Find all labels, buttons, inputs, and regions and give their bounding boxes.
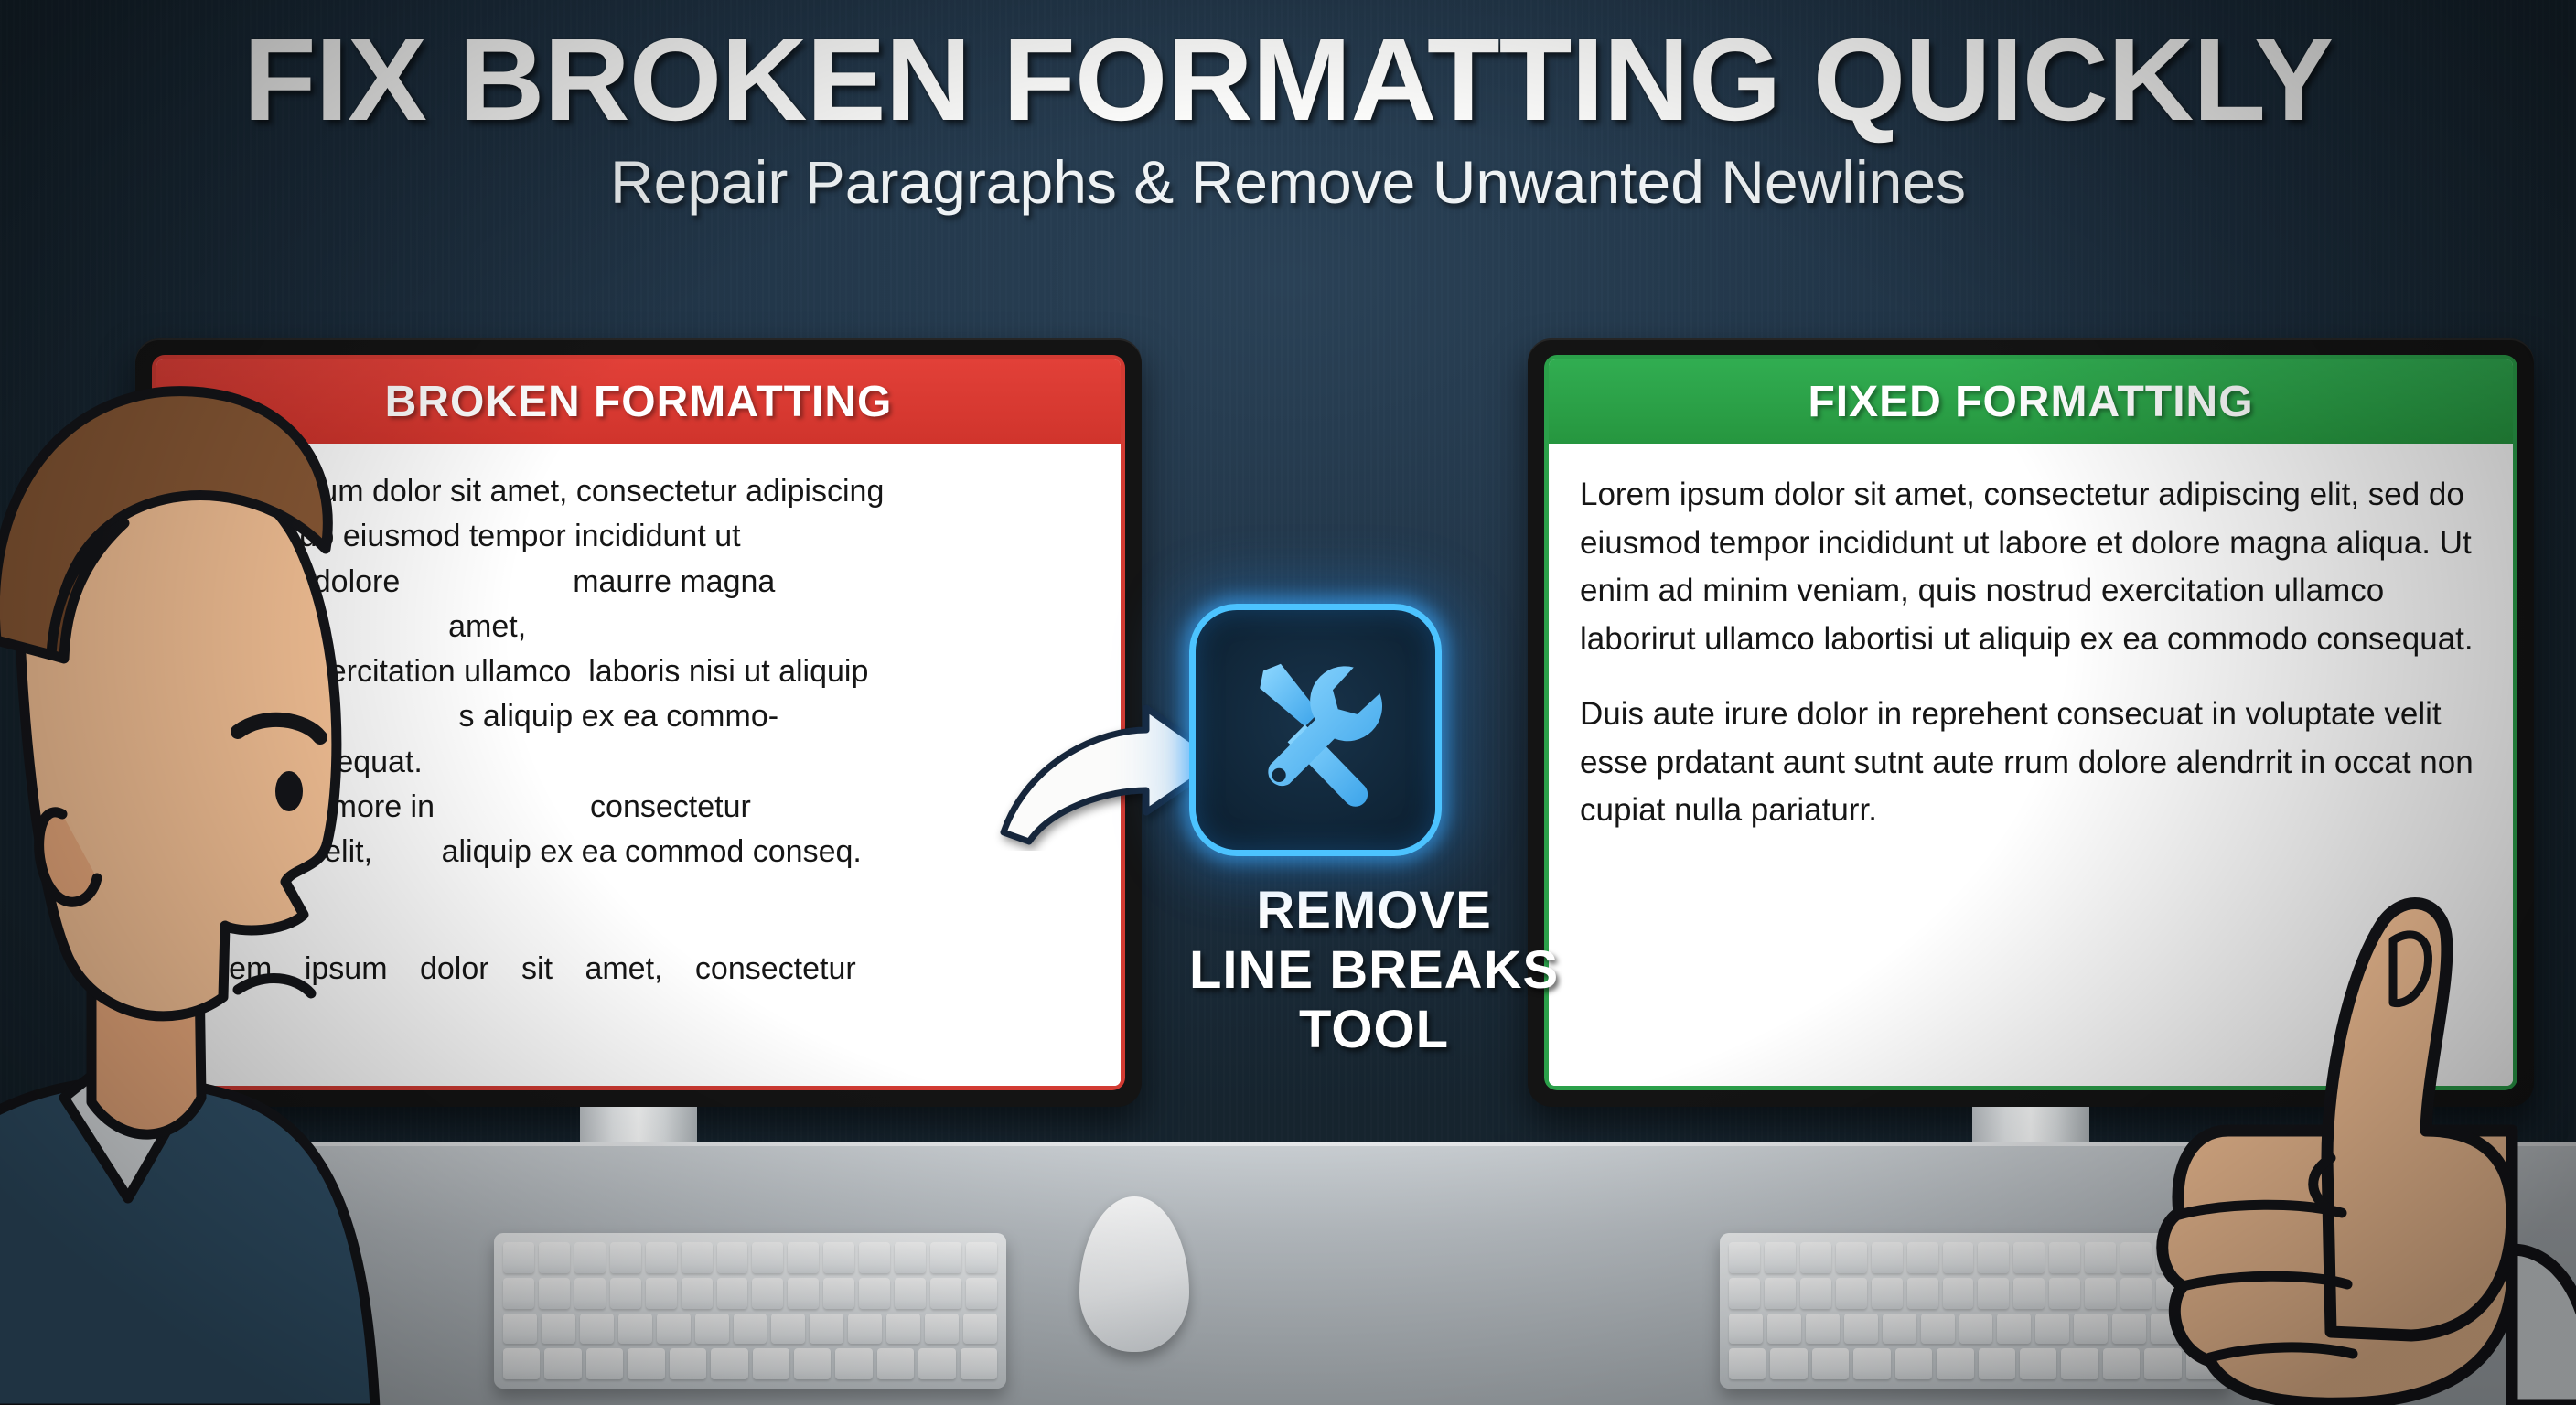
keyboard-key[interactable] bbox=[2020, 1348, 2056, 1379]
keyboard-key[interactable] bbox=[717, 1242, 748, 1273]
keyboard-key[interactable] bbox=[1943, 1278, 1974, 1309]
keyboard-key[interactable] bbox=[788, 1242, 819, 1273]
keyboard-key[interactable] bbox=[1770, 1348, 1807, 1379]
fixed-formatting-heading: FIXED FORMATTING bbox=[1549, 359, 2513, 444]
left-keyboard[interactable] bbox=[494, 1233, 1006, 1389]
keyboard-key[interactable] bbox=[586, 1348, 623, 1379]
keyboard-key[interactable] bbox=[1836, 1278, 1867, 1309]
tool-badge[interactable]: REMOVE LINE BREAKS TOOL bbox=[1189, 604, 1559, 1060]
keyboard-key[interactable] bbox=[1978, 1242, 2009, 1273]
keyboard-key[interactable] bbox=[1729, 1348, 1766, 1379]
keyboard-key[interactable] bbox=[1978, 1278, 2009, 1309]
keyboard-key[interactable] bbox=[580, 1314, 614, 1345]
keyboard-key[interactable] bbox=[966, 1242, 997, 1273]
keyboard-key[interactable] bbox=[670, 1348, 706, 1379]
keyboard-key[interactable] bbox=[1729, 1242, 1760, 1273]
infographic-canvas: FIX BROKEN FORMATTING QUICKLY Repair Par… bbox=[0, 0, 2576, 1405]
keyboard-key[interactable] bbox=[1836, 1242, 1867, 1273]
keyboard-key[interactable] bbox=[542, 1314, 575, 1345]
keyboard-key[interactable] bbox=[1800, 1278, 1831, 1309]
tool-label-line-3: TOOL bbox=[1189, 1001, 1559, 1060]
keyboard-key[interactable] bbox=[711, 1348, 747, 1379]
keyboard-key[interactable] bbox=[1872, 1242, 1903, 1273]
keyboard-key[interactable] bbox=[610, 1242, 641, 1273]
keyboard-key[interactable] bbox=[544, 1348, 581, 1379]
keyboard-key[interactable] bbox=[1937, 1348, 1973, 1379]
keyboard-row bbox=[503, 1348, 997, 1379]
fixed-text-paragraph: Duis aute irure dolor in reprehent conse… bbox=[1580, 691, 2482, 835]
keyboard-key[interactable] bbox=[961, 1348, 997, 1379]
tool-label-line-1: REMOVE bbox=[1189, 882, 1559, 941]
keyboard-key[interactable] bbox=[1907, 1242, 1938, 1273]
keyboard-key[interactable] bbox=[823, 1242, 854, 1273]
keyboard-key[interactable] bbox=[848, 1314, 882, 1345]
keyboard-key[interactable] bbox=[2085, 1278, 2116, 1309]
header: FIX BROKEN FORMATTING QUICKLY Repair Par… bbox=[0, 0, 2576, 212]
keyboard-key[interactable] bbox=[646, 1242, 677, 1273]
keyboard-key[interactable] bbox=[895, 1278, 926, 1309]
keyboard-key[interactable] bbox=[771, 1314, 805, 1345]
keyboard-key[interactable] bbox=[1800, 1242, 1831, 1273]
keyboard-key[interactable] bbox=[717, 1278, 748, 1309]
keyboard-key[interactable] bbox=[753, 1348, 789, 1379]
keyboard-key[interactable] bbox=[835, 1348, 872, 1379]
keyboard-key[interactable] bbox=[859, 1242, 890, 1273]
keyboard-key[interactable] bbox=[1853, 1348, 1890, 1379]
tool-label: REMOVE LINE BREAKS TOOL bbox=[1189, 882, 1559, 1060]
keyboard-key[interactable] bbox=[886, 1314, 920, 1345]
keyboard-key[interactable] bbox=[1883, 1314, 1916, 1345]
keyboard-row bbox=[503, 1278, 997, 1309]
keyboard-row bbox=[503, 1314, 997, 1345]
keyboard-key[interactable] bbox=[966, 1278, 997, 1309]
keyboard-key[interactable] bbox=[2049, 1278, 2080, 1309]
keyboard-key[interactable] bbox=[1767, 1314, 1801, 1345]
page-subtitle: Repair Paragraphs & Remove Unwanted Newl… bbox=[0, 152, 2576, 212]
keyboard-key[interactable] bbox=[1979, 1348, 2015, 1379]
keyboard-key[interactable] bbox=[2061, 1348, 2098, 1379]
keyboard-key[interactable] bbox=[963, 1314, 997, 1345]
keyboard-key[interactable] bbox=[695, 1314, 729, 1345]
keyboard-key[interactable] bbox=[1959, 1314, 1993, 1345]
keyboard-key[interactable] bbox=[794, 1348, 831, 1379]
keyboard-key[interactable] bbox=[1806, 1314, 1840, 1345]
keyboard-key[interactable] bbox=[1907, 1278, 1938, 1309]
keyboard-key[interactable] bbox=[1844, 1314, 1878, 1345]
keyboard-key[interactable] bbox=[610, 1278, 641, 1309]
keyboard-key[interactable] bbox=[2074, 1314, 2108, 1345]
keyboard-key[interactable] bbox=[628, 1348, 664, 1379]
keyboard-key[interactable] bbox=[682, 1278, 713, 1309]
keyboard-key[interactable] bbox=[859, 1278, 890, 1309]
keyboard-key[interactable] bbox=[1943, 1242, 1974, 1273]
keyboard-key[interactable] bbox=[810, 1314, 843, 1345]
fixed-text-block: Lorem ipsum dolor sit amet, consectetur … bbox=[1549, 444, 2513, 835]
keyboard-key[interactable] bbox=[574, 1278, 606, 1309]
keyboard-key[interactable] bbox=[574, 1242, 606, 1273]
keyboard-key[interactable] bbox=[1872, 1278, 1903, 1309]
keyboard-key[interactable] bbox=[925, 1314, 959, 1345]
keyboard-key[interactable] bbox=[823, 1278, 854, 1309]
keyboard-key[interactable] bbox=[788, 1278, 819, 1309]
page-title: FIX BROKEN FORMATTING QUICKLY bbox=[0, 22, 2576, 139]
fixed-text-paragraph: Lorem ipsum dolor sit amet, consectetur … bbox=[1580, 471, 2482, 663]
thumbs-up-hand bbox=[2119, 856, 2576, 1405]
keyboard-key[interactable] bbox=[752, 1242, 783, 1273]
keyboard-key[interactable] bbox=[734, 1314, 767, 1345]
keyboard-key[interactable] bbox=[752, 1278, 783, 1309]
wrench-screwdriver-icon bbox=[1229, 643, 1402, 817]
keyboard-key[interactable] bbox=[1812, 1348, 1849, 1379]
keyboard-key[interactable] bbox=[682, 1242, 713, 1273]
keyboard-key[interactable] bbox=[657, 1314, 691, 1345]
keyboard-key[interactable] bbox=[646, 1278, 677, 1309]
keyboard-key[interactable] bbox=[1729, 1314, 1763, 1345]
tool-icon-frame[interactable] bbox=[1189, 604, 1442, 856]
keyboard-row bbox=[503, 1242, 997, 1273]
keyboard-key[interactable] bbox=[1997, 1314, 2031, 1345]
keyboard-key[interactable] bbox=[1765, 1278, 1796, 1309]
keyboard-key[interactable] bbox=[2085, 1242, 2116, 1273]
keyboard-key[interactable] bbox=[1895, 1348, 1932, 1379]
keyboard-key[interactable] bbox=[2013, 1242, 2045, 1273]
keyboard-key[interactable] bbox=[1921, 1314, 1955, 1345]
keyboard-key[interactable] bbox=[539, 1242, 570, 1273]
keyboard-key[interactable] bbox=[618, 1314, 652, 1345]
keyboard-key[interactable] bbox=[930, 1278, 961, 1309]
frustrated-man-at-desk bbox=[0, 274, 531, 1405]
keyboard-key[interactable] bbox=[2035, 1314, 2069, 1345]
keyboard-key[interactable] bbox=[2013, 1278, 2045, 1309]
keyboard-key[interactable] bbox=[539, 1278, 570, 1309]
keyboard-key[interactable] bbox=[877, 1348, 914, 1379]
keyboard-key[interactable] bbox=[930, 1242, 961, 1273]
keyboard-key[interactable] bbox=[918, 1348, 955, 1379]
keyboard-key[interactable] bbox=[1729, 1278, 1760, 1309]
tool-label-line-2: LINE BREAKS bbox=[1189, 941, 1559, 1001]
keyboard-key[interactable] bbox=[1765, 1242, 1796, 1273]
keyboard-key[interactable] bbox=[895, 1242, 926, 1273]
keyboard-key[interactable] bbox=[2049, 1242, 2080, 1273]
